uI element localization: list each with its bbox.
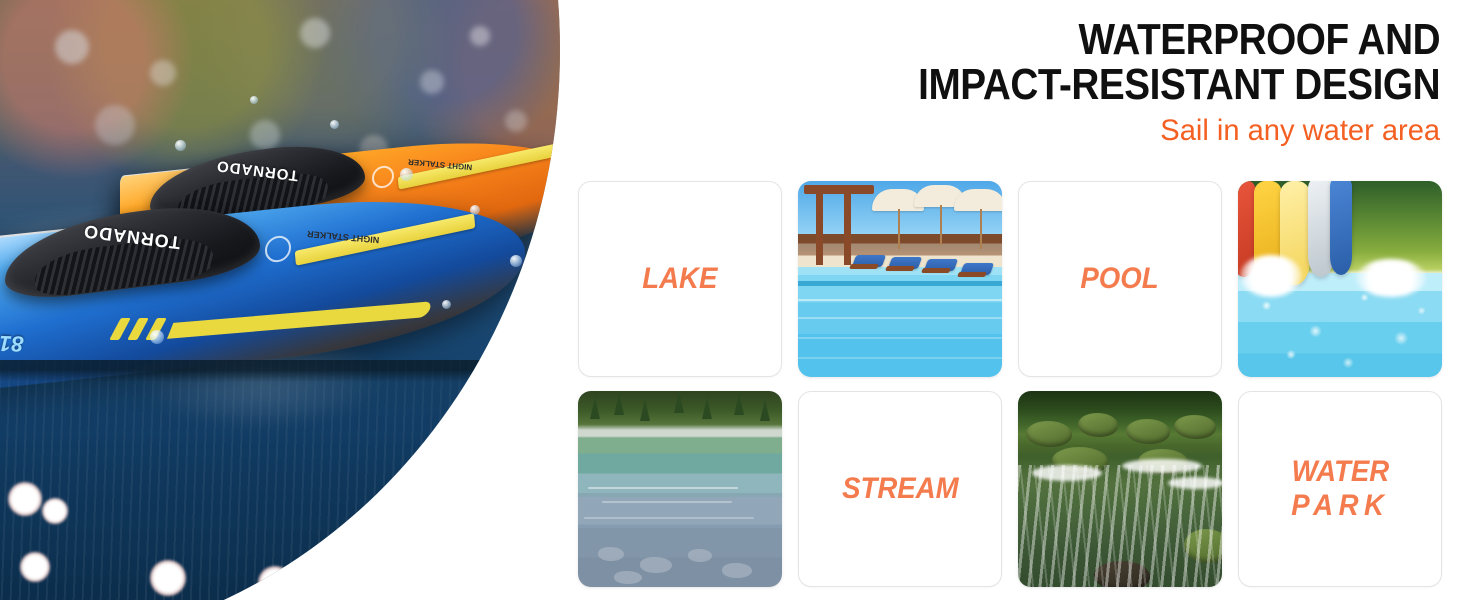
underwater-light: [258, 566, 292, 600]
headline-block: WATERPROOF AND IMPACT-RESISTANT DESIGN S…: [847, 18, 1440, 147]
tree-icon: [614, 393, 624, 415]
tile-lake-photo[interactable]: [578, 391, 782, 587]
underwater-light: [292, 570, 322, 600]
lounge-chair: [888, 257, 922, 269]
water-droplet: [510, 255, 522, 267]
underwater-light: [42, 498, 68, 524]
water-ripple: [798, 337, 1002, 339]
tile-lake[interactable]: LAKE: [578, 181, 782, 377]
tile-label: POOL: [1081, 262, 1159, 296]
tile-label: STREAM: [842, 472, 959, 506]
water-droplet: [400, 168, 413, 181]
mossy-rock: [1026, 421, 1072, 447]
lounge-chair: [960, 263, 994, 275]
deck-post: [844, 191, 851, 265]
water-ripple: [584, 517, 754, 519]
boat-model-number: 819: [0, 329, 24, 356]
use-case-grid: LAKE POOL: [578, 181, 1460, 589]
headline-line-1: WATERPROOF AND: [918, 18, 1440, 63]
underwater-light: [20, 552, 50, 582]
lake-stone: [598, 547, 624, 561]
lake-stone: [614, 571, 642, 584]
tile-label-line-2: PARK: [1291, 489, 1389, 523]
mossy-rock: [1078, 413, 1118, 437]
deck-post: [816, 187, 823, 265]
tile-stream-photo[interactable]: [1018, 391, 1222, 587]
water-slide: [1330, 181, 1352, 275]
water-droplet: [150, 330, 164, 344]
mossy-rock: [1174, 415, 1216, 439]
tree-icon: [760, 399, 770, 421]
tree-icon: [590, 397, 600, 419]
tile-water-park[interactable]: WATER PARK: [1238, 391, 1442, 587]
water-droplet: [442, 300, 451, 309]
lounge-chair: [852, 255, 886, 267]
pool-bubbles: [1238, 275, 1442, 377]
lake-stone: [640, 557, 672, 573]
water-droplet: [330, 120, 339, 129]
tile-pool[interactable]: POOL: [1018, 181, 1222, 377]
rc-boat-blue: TORNADO NIGHT STALKER 819: [0, 212, 525, 362]
tile-label: WATER PARK: [1291, 455, 1389, 522]
lake-stone: [722, 563, 752, 578]
headline-line-2: IMPACT-RESISTANT DESIGN: [918, 63, 1440, 108]
umbrella-icon: [954, 189, 1002, 211]
water-ripple: [798, 357, 1002, 359]
water-droplet: [470, 205, 480, 215]
water-ripple: [602, 501, 732, 503]
mossy-rock: [1126, 419, 1170, 444]
lake-stone: [688, 549, 712, 562]
stream-shimmer: [1018, 465, 1222, 587]
water-droplet: [250, 96, 258, 104]
tree-icon: [640, 399, 650, 421]
content-panel: WATERPROOF AND IMPACT-RESISTANT DESIGN S…: [560, 0, 1464, 600]
tree-icon: [674, 391, 684, 413]
pool-edge-tiles: [798, 281, 1002, 286]
water-ripple: [798, 299, 1002, 301]
hero-product-image: TORNADO NIGHT STALKER TORNADO NIGHT STAL…: [0, 0, 620, 600]
water-ripple: [798, 317, 1002, 319]
lounge-chair: [924, 259, 958, 271]
tile-pool-photo[interactable]: [798, 181, 1002, 377]
underwater-light: [8, 482, 42, 516]
water-droplet: [175, 140, 186, 151]
headline-subtitle: Sail in any water area: [865, 114, 1440, 147]
tree-icon: [702, 397, 712, 419]
water-surface: [0, 360, 620, 600]
tree-icon: [734, 393, 744, 415]
tile-stream[interactable]: STREAM: [798, 391, 1002, 587]
water-ripple: [588, 487, 738, 489]
tile-waterpark-photo[interactable]: [1238, 181, 1442, 377]
tile-label-line-1: WATER: [1291, 455, 1389, 488]
tile-label: LAKE: [642, 262, 717, 296]
underwater-light: [150, 560, 186, 596]
underwater-light: [322, 572, 350, 600]
